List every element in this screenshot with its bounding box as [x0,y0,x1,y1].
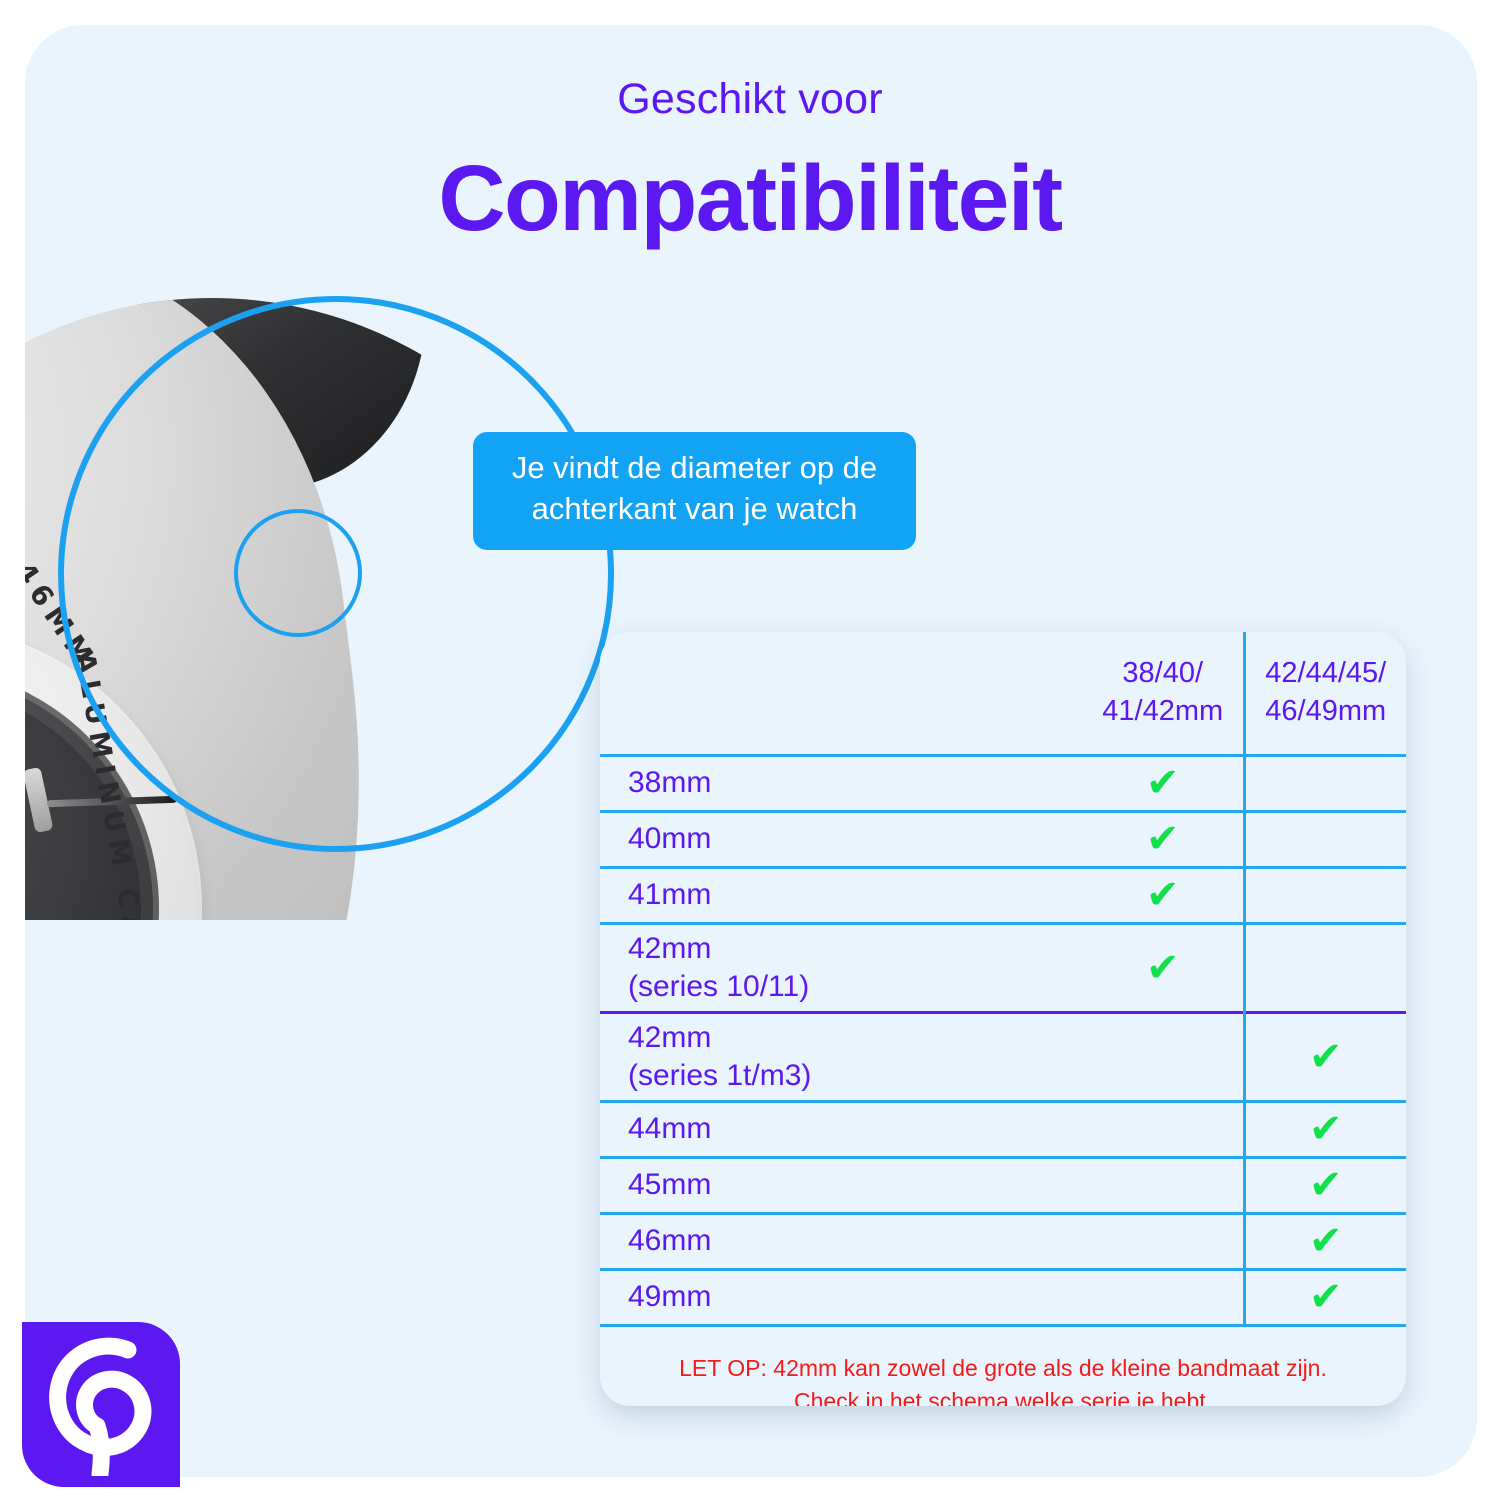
header-large-sizes: 42/44/45/ 46/49mm [1244,632,1406,756]
row-size-label: 45mm [600,1158,1083,1214]
table-row: 44mm✔ [600,1102,1406,1158]
table-row: 40mm✔ [600,812,1406,868]
table-body: 38mm✔40mm✔41mm✔42mm(series 10/11)✔42mm(s… [600,756,1406,1326]
table-note: LET OP: 42mm kan zowel de grote als de k… [600,1326,1406,1407]
cell-large-band: ✔ [1244,1102,1406,1158]
row-size-label: 40mm [600,812,1083,868]
table-row: 45mm✔ [600,1158,1406,1214]
brand-logo-mark-icon [40,1336,164,1476]
cell-small-band: ✔ [1083,924,1244,1013]
check-icon: ✔ [1146,875,1180,915]
row-size-label: 49mm [600,1270,1083,1326]
cell-large-band [1244,756,1406,812]
table-row: 46mm✔ [600,1214,1406,1270]
cell-large-band: ✔ [1244,1214,1406,1270]
header-label-column [600,632,1083,756]
cell-large-band [1244,924,1406,1013]
table-row: 41mm✔ [600,868,1406,924]
row-size-label-line1: 42mm [628,932,711,965]
cell-large-band: ✔ [1244,1013,1406,1102]
table-row: 42mm(series 10/11)✔ [600,924,1406,1013]
row-size-label-line1: 45mm [628,1168,711,1201]
check-icon: ✔ [1146,763,1180,803]
table-note-row: LET OP: 42mm kan zowel de grote als de k… [600,1326,1406,1407]
brand-logo [22,1322,180,1487]
size-highlight-circle-icon [234,509,362,637]
check-icon: ✔ [1309,1109,1343,1149]
header-large-line1: 42/44/45/ [1265,657,1386,689]
row-size-label-line1: 49mm [628,1280,711,1313]
row-size-label: 44mm [600,1102,1083,1158]
diameter-hint-callout: Je vindt de diameter op de achterkant va… [473,432,916,550]
row-size-label: 46mm [600,1214,1083,1270]
row-size-label: 42mm(series 10/11) [600,924,1083,1013]
row-size-label-line1: 41mm [628,878,711,911]
cell-small-band [1083,1270,1244,1326]
cell-small-band [1083,1214,1244,1270]
row-size-label-line1: 42mm [628,1021,711,1054]
row-size-label: 41mm [600,868,1083,924]
cell-small-band [1083,1102,1244,1158]
check-icon: ✔ [1146,948,1180,988]
cell-small-band: ✔ [1083,756,1244,812]
check-icon: ✔ [1309,1037,1343,1077]
compatibility-table: 38/40/ 41/42mm 42/44/45/ 46/49mm 38mm✔40… [600,632,1406,1406]
cell-large-band [1244,868,1406,924]
table-row: 38mm✔ [600,756,1406,812]
row-size-label-line1: 44mm [628,1112,711,1145]
cell-large-band [1244,812,1406,868]
header-small-line1: 38/40/ [1122,657,1203,689]
check-icon: ✔ [1309,1221,1343,1261]
row-size-label-line1: 46mm [628,1224,711,1257]
row-size-label-line1: 40mm [628,822,711,855]
table-header-row: 38/40/ 41/42mm 42/44/45/ 46/49mm [600,632,1406,756]
check-icon: ✔ [1309,1277,1343,1317]
cell-large-band: ✔ [1244,1270,1406,1326]
cell-large-band: ✔ [1244,1158,1406,1214]
check-icon: ✔ [1309,1165,1343,1205]
table-note-line1: LET OP: 42mm kan zowel de grote als de k… [679,1355,1327,1381]
row-size-label-line1: 38mm [628,766,711,799]
row-size-label: 42mm(series 1t/m3) [600,1013,1083,1102]
row-size-label-line2: (series 1t/m3) [628,1059,811,1092]
header-small-line2: 41/42mm [1102,695,1223,727]
cell-small-band [1083,1158,1244,1214]
cell-small-band: ✔ [1083,868,1244,924]
header-large-line2: 46/49mm [1265,695,1386,727]
table-note-line2: Check in het schema welke serie je hebt. [794,1388,1212,1406]
header-small-sizes: 38/40/ 41/42mm [1083,632,1244,756]
screenshot-root: Geschikt voor Compatibiliteit [0,0,1500,1500]
compatibility-table-card: 38/40/ 41/42mm 42/44/45/ 46/49mm 38mm✔40… [600,632,1406,1406]
table-row: 42mm(series 1t/m3)✔ [600,1013,1406,1102]
row-size-label: 38mm [600,756,1083,812]
check-icon: ✔ [1146,819,1180,859]
row-size-label-line2: (series 10/11) [628,970,809,1003]
table-row: 49mm✔ [600,1270,1406,1326]
cell-small-band: ✔ [1083,812,1244,868]
cell-small-band [1083,1013,1244,1102]
